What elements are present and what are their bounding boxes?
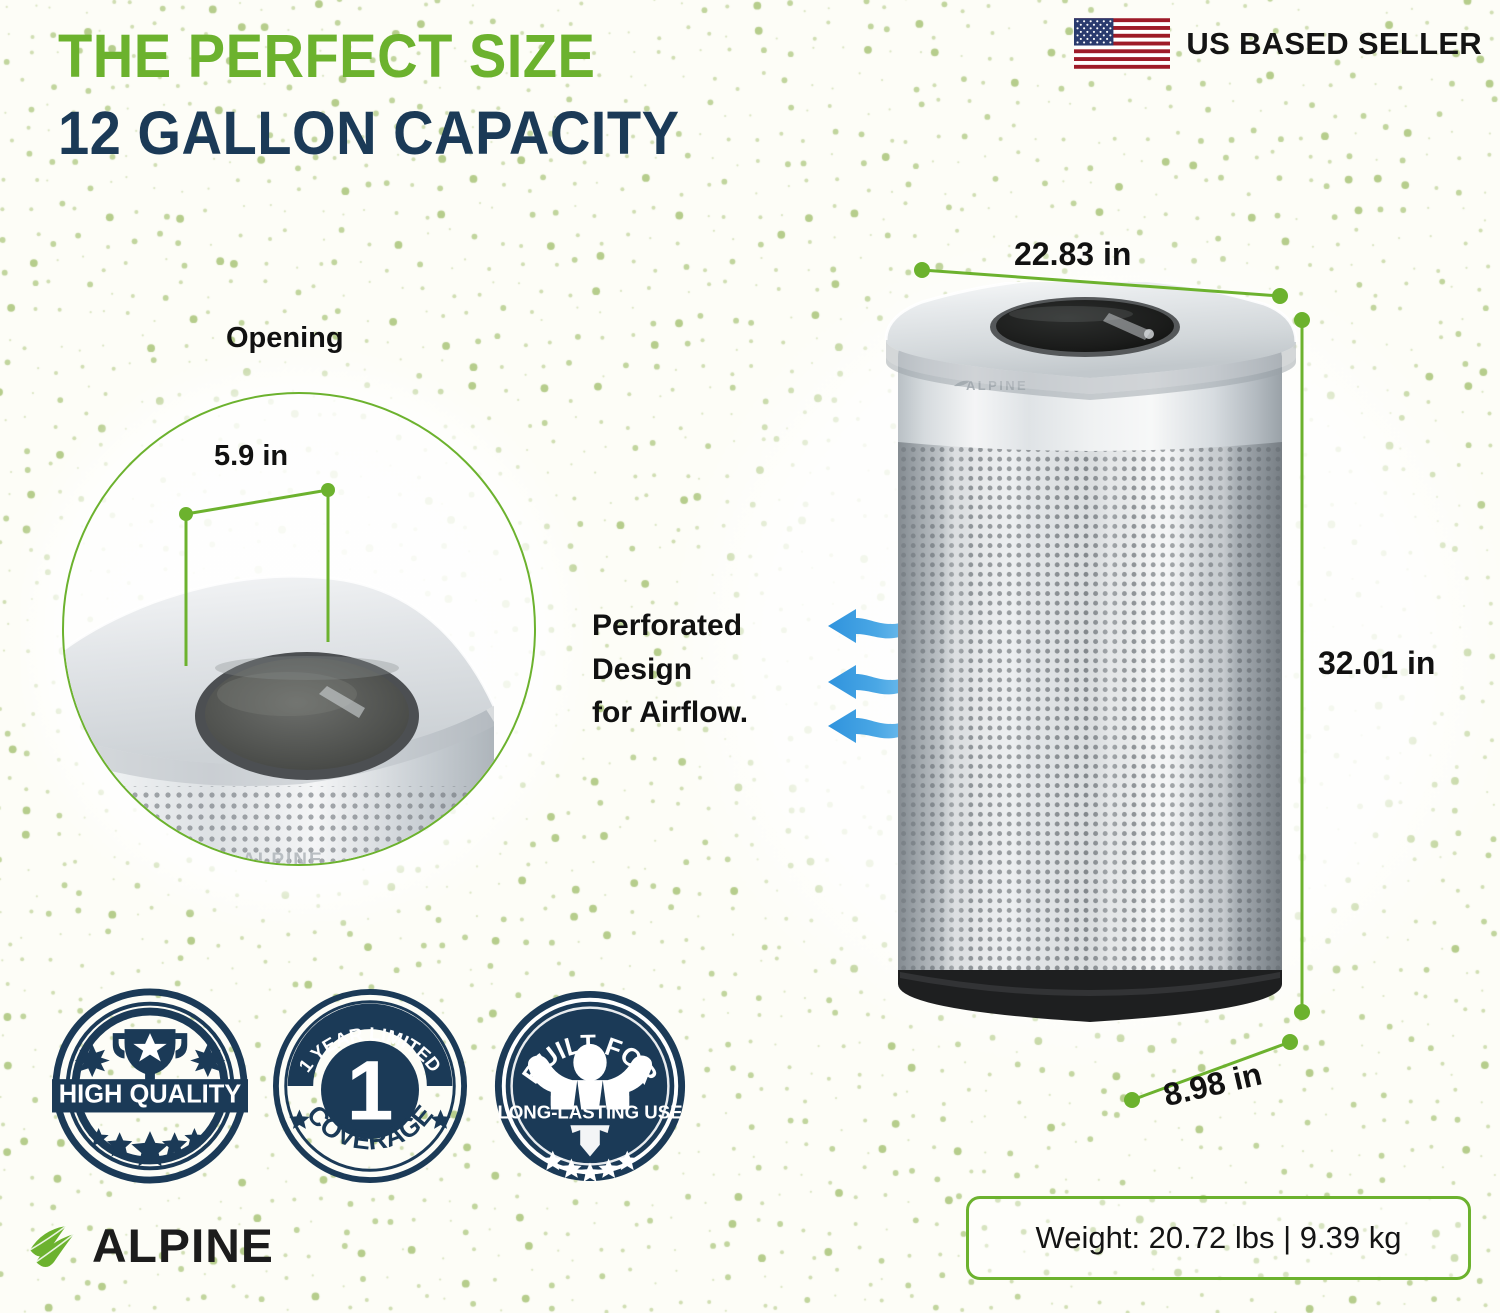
- weight-label: Weight: 20.72 lbs | 9.39 kg: [1036, 1220, 1402, 1256]
- alpine-logo: ALPINE: [26, 1218, 270, 1273]
- trust-badges: HIGH QUALITY 1 YEAR LIMITED: [52, 988, 688, 1184]
- alpine-leaf-icon: [26, 1220, 86, 1272]
- badge-high-quality: HIGH QUALITY: [52, 988, 248, 1184]
- badge-high-quality-label: HIGH QUALITY: [59, 1081, 242, 1109]
- dimension-width-label: 22.83 in: [1014, 236, 1131, 273]
- dimension-height-label: 32.01 in: [1318, 645, 1435, 682]
- alpine-logo-text: ALPINE: [92, 1218, 274, 1273]
- badge-built-for-long-lasting-use: BUILT FOR LONG-LASTING USE: [492, 988, 688, 1184]
- weight-box: Weight: 20.72 lbs | 9.39 kg: [966, 1196, 1471, 1280]
- badge-one-year-coverage: 1 YEAR LIMITED 1 COVERAGE: [272, 988, 468, 1184]
- badge-built-label: LONG-LASTING USE: [497, 1101, 682, 1122]
